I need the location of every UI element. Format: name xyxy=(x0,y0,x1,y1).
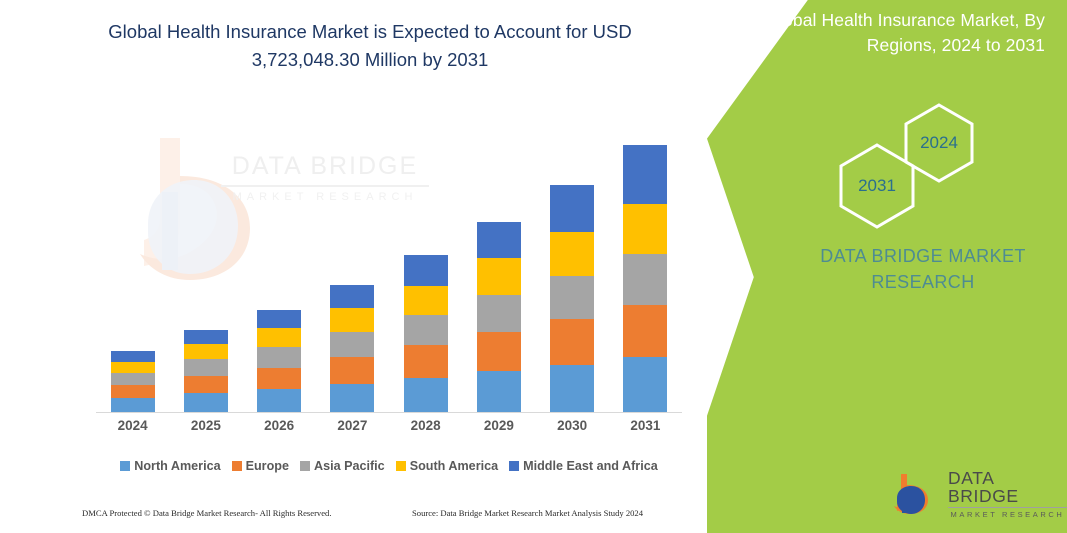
bar-segment-2027-north-america xyxy=(330,384,374,412)
bar-segment-2030-north-america xyxy=(550,365,594,412)
bar-segment-2026-north-america xyxy=(257,389,301,412)
x-axis-line xyxy=(96,412,682,413)
bar-segment-2029-asia-pacific xyxy=(477,295,521,332)
bar-2030[interactable] xyxy=(550,185,594,412)
brand-logo: DATA BRIDGE MARKET RESEARCH xyxy=(893,470,1067,519)
hexagon-badge-2031: 2031 xyxy=(838,142,916,230)
bar-segment-2024-asia-pacific xyxy=(111,373,155,385)
bar-segment-2029-south-america xyxy=(477,258,521,294)
bar-segment-2025-asia-pacific xyxy=(184,359,228,375)
stacked-bar-chart xyxy=(96,120,682,413)
x-axis-label-2024: 2024 xyxy=(103,418,163,433)
bar-2025[interactable] xyxy=(184,330,228,412)
bar-segment-2031-middle-east-and-africa xyxy=(623,145,667,204)
panel-brand-text: DATA BRIDGE MARKET RESEARCH xyxy=(808,243,1038,295)
bar-segment-2028-middle-east-and-africa xyxy=(404,255,448,285)
bar-segment-2026-europe xyxy=(257,368,301,389)
logo-secondary-text: MARKET RESEARCH xyxy=(948,511,1067,519)
legend-label: Middle East and Africa xyxy=(523,459,658,473)
bar-segment-2031-north-america xyxy=(623,357,667,412)
bar-segment-2026-asia-pacific xyxy=(257,347,301,367)
bar-segment-2029-europe xyxy=(477,332,521,370)
bar-segment-2028-south-america xyxy=(404,286,448,315)
legend-swatch-icon xyxy=(396,461,406,471)
bar-2026[interactable] xyxy=(257,310,301,412)
legend-label: South America xyxy=(410,459,498,473)
bar-segment-2025-south-america xyxy=(184,344,228,359)
bar-segment-2025-middle-east-and-africa xyxy=(184,330,228,344)
x-axis-label-2027: 2027 xyxy=(322,418,382,433)
bar-segment-2030-europe xyxy=(550,319,594,364)
legend-item-middle-east-and-africa[interactable]: Middle East and Africa xyxy=(509,459,658,473)
bar-segment-2029-north-america xyxy=(477,371,521,412)
bar-2027[interactable] xyxy=(330,285,374,412)
bar-segment-2025-europe xyxy=(184,376,228,393)
legend-item-europe[interactable]: Europe xyxy=(232,459,289,473)
bar-segment-2027-middle-east-and-africa xyxy=(330,285,374,308)
bar-segment-2026-south-america xyxy=(257,328,301,347)
legend-item-asia-pacific[interactable]: Asia Pacific xyxy=(300,459,385,473)
legend-label: North America xyxy=(134,459,220,473)
legend-item-south-america[interactable]: South America xyxy=(396,459,498,473)
x-axis-label-2025: 2025 xyxy=(176,418,236,433)
legend-item-north-america[interactable]: North America xyxy=(120,459,220,473)
legend-label: Europe xyxy=(246,459,289,473)
bar-2028[interactable] xyxy=(404,255,448,412)
bar-segment-2028-europe xyxy=(404,345,448,377)
bar-segment-2028-north-america xyxy=(404,378,448,412)
chart-legend: North AmericaEuropeAsia PacificSouth Ame… xyxy=(96,455,682,477)
x-axis-label-2031: 2031 xyxy=(615,418,675,433)
bar-segment-2026-middle-east-and-africa xyxy=(257,310,301,328)
x-axis-label-2030: 2030 xyxy=(542,418,602,433)
bar-2031[interactable] xyxy=(623,145,667,412)
legend-swatch-icon xyxy=(232,461,242,471)
page-title: Global Health Insurance Market is Expect… xyxy=(60,18,680,74)
bar-segment-2031-asia-pacific xyxy=(623,254,667,305)
bar-2029[interactable] xyxy=(477,222,521,412)
bar-segment-2029-middle-east-and-africa xyxy=(477,222,521,258)
bar-segment-2031-south-america xyxy=(623,204,667,255)
x-axis-labels: 20242025202620272028202920302031 xyxy=(96,418,682,440)
bar-segment-2030-asia-pacific xyxy=(550,276,594,319)
bar-segment-2027-europe xyxy=(330,357,374,383)
bar-segment-2027-asia-pacific xyxy=(330,332,374,357)
bar-segment-2031-europe xyxy=(623,305,667,358)
bar-segment-2027-south-america xyxy=(330,308,374,332)
panel-title: Global Health Insurance Market, By Regio… xyxy=(745,8,1045,59)
bar-segment-2024-north-america xyxy=(111,398,155,412)
footer-copyright: DMCA Protected © Data Bridge Market Rese… xyxy=(82,508,412,524)
legend-swatch-icon xyxy=(509,461,519,471)
legend-swatch-icon xyxy=(120,461,130,471)
hexagon-2024-label: 2024 xyxy=(920,133,958,153)
hexagon-2031-label: 2031 xyxy=(858,176,896,196)
bar-segment-2024-europe xyxy=(111,385,155,398)
footer: DMCA Protected © Data Bridge Market Rese… xyxy=(82,508,682,524)
bar-segment-2024-middle-east-and-africa xyxy=(111,351,155,361)
x-axis-label-2026: 2026 xyxy=(249,418,309,433)
x-axis-label-2028: 2028 xyxy=(396,418,456,433)
bar-segment-2024-south-america xyxy=(111,362,155,373)
bar-segment-2028-asia-pacific xyxy=(404,315,448,345)
data-bridge-logo-icon xyxy=(893,472,939,516)
legend-label: Asia Pacific xyxy=(314,459,385,473)
bar-2024[interactable] xyxy=(111,351,155,412)
bar-segment-2030-south-america xyxy=(550,232,594,275)
footer-source: Source: Data Bridge Market Research Mark… xyxy=(412,508,682,524)
bar-segment-2025-north-america xyxy=(184,393,228,412)
x-axis-label-2029: 2029 xyxy=(469,418,529,433)
legend-swatch-icon xyxy=(300,461,310,471)
logo-primary-text: DATA BRIDGE xyxy=(948,470,1067,508)
bar-segment-2030-middle-east-and-africa xyxy=(550,185,594,232)
